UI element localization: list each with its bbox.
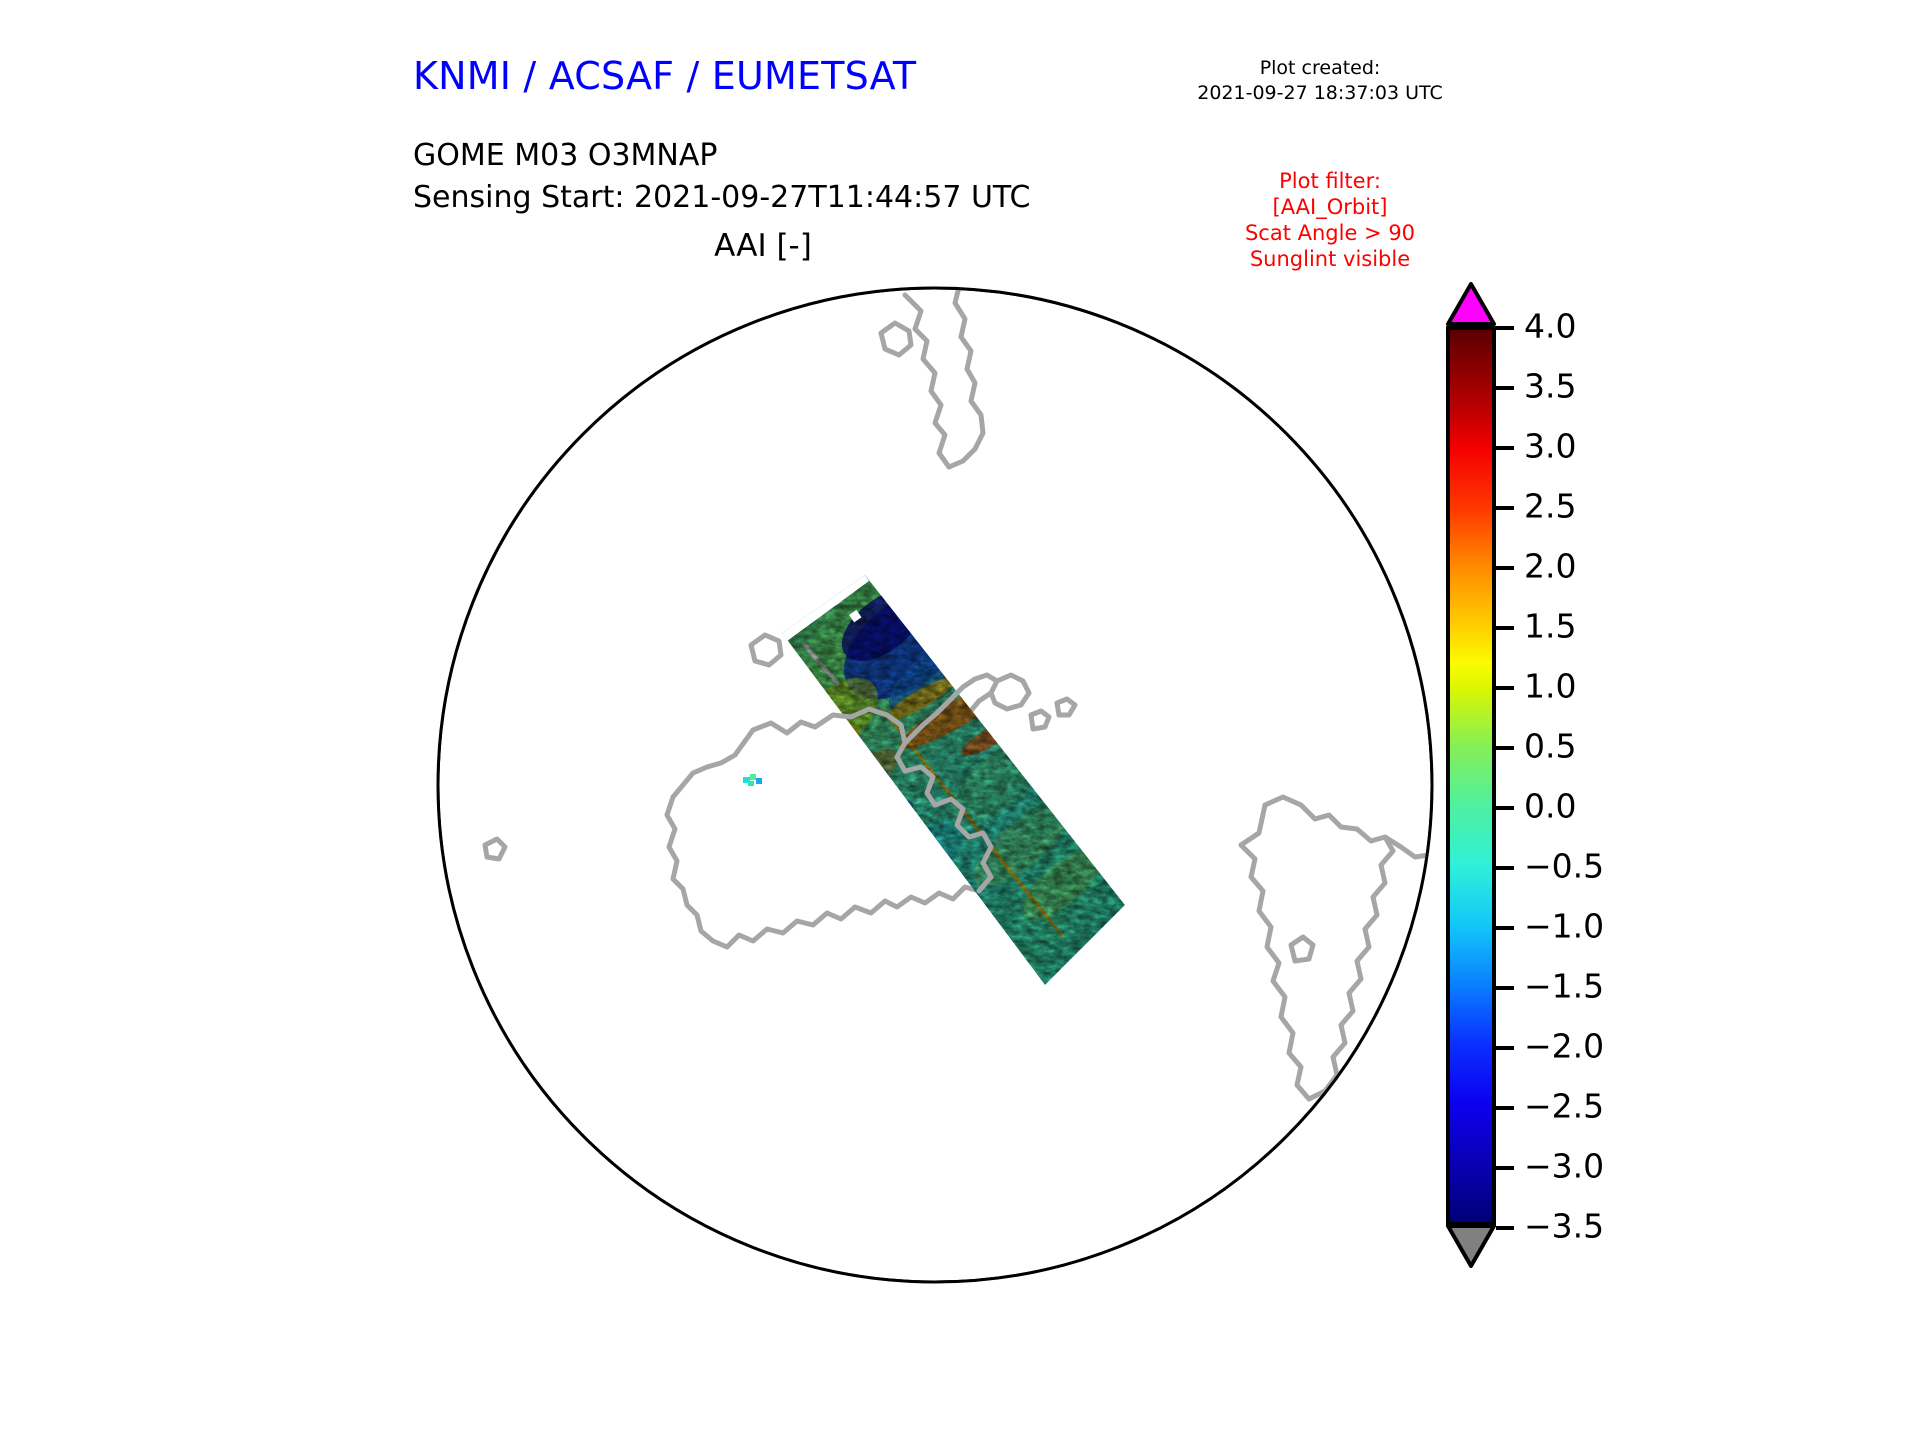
plot-created-timestamp: 2021-09-27 18:37:03 UTC — [1160, 81, 1480, 106]
colorbar-tick-label: 2.0 — [1524, 550, 1576, 583]
plot-filter-title: Plot filter: — [1180, 168, 1480, 194]
colorbar-tick-label: 2.5 — [1524, 490, 1576, 523]
colorbar-tick-label: 4.0 — [1524, 310, 1576, 343]
colorbar-tick-mark — [1496, 806, 1514, 810]
colorbar-tick-mark — [1496, 326, 1514, 330]
colorbar-tick-mark — [1496, 1226, 1514, 1230]
colorbar-gradient — [1450, 330, 1492, 1222]
colorbar-tick-label: −2.5 — [1524, 1090, 1604, 1123]
plot-filter-line-2: Scat Angle > 90 — [1180, 220, 1480, 246]
colorbar-tick-label: 3.0 — [1524, 430, 1576, 463]
colorbar-tick-mark — [1496, 686, 1514, 690]
colorbar-tick-label: −1.0 — [1524, 910, 1604, 943]
organisation-title: KNMI / ACSAF / EUMETSAT — [413, 54, 916, 98]
plot-filter-block: Plot filter: [AAI_Orbit] Scat Angle > 90… — [1180, 168, 1480, 272]
colorbar-tick-mark — [1496, 506, 1514, 510]
plot-filter-line-3: Sunglint visible — [1180, 246, 1480, 272]
colorbar-tick-label: −1.5 — [1524, 970, 1604, 1003]
colorbar-tick-label: −3.0 — [1524, 1150, 1604, 1183]
colorbar-tick-label: −0.5 — [1524, 850, 1604, 883]
colorbar-tick-mark — [1496, 1166, 1514, 1170]
colorbar-tick-mark — [1496, 866, 1514, 870]
polar-stereographic-map[interactable] — [435, 285, 1435, 1285]
colorbar-body[interactable] — [1446, 326, 1496, 1226]
colorbar-tick-mark — [1496, 566, 1514, 570]
colorbar-tick-mark — [1496, 926, 1514, 930]
quantity-title: AAI [-] — [413, 228, 1113, 264]
colorbar-tick-mark — [1496, 986, 1514, 990]
colorbar-tick-label: 0.5 — [1524, 730, 1576, 763]
colorbar-tick-mark — [1496, 386, 1514, 390]
colorbar[interactable]: 4.03.53.02.52.01.51.00.50.0−0.5−1.0−1.5−… — [1432, 285, 1852, 1295]
dataset-block: GOME M03 O3MNAP Sensing Start: 2021-09-2… — [413, 135, 1030, 219]
colorbar-tick-label: 1.0 — [1524, 670, 1576, 703]
colorbar-tick-mark — [1496, 626, 1514, 630]
colorbar-tick-label: 3.5 — [1524, 370, 1576, 403]
sensing-start: Sensing Start: 2021-09-27T11:44:57 UTC — [413, 177, 1030, 219]
map-panel[interactable] — [435, 285, 1435, 1285]
plot-created-label: Plot created: — [1160, 56, 1480, 81]
colorbar-tick-mark — [1496, 446, 1514, 450]
plot-filter-line-1: [AAI_Orbit] — [1180, 194, 1480, 220]
colorbar-over-arrow — [1446, 282, 1496, 326]
dataset-name: GOME M03 O3MNAP — [413, 135, 1030, 177]
colorbar-tick-label: −2.0 — [1524, 1030, 1604, 1063]
plot-created-block: Plot created: 2021-09-27 18:37:03 UTC — [1160, 56, 1480, 106]
rim-island-nw — [657, 307, 707, 349]
colorbar-tick-label: 0.0 — [1524, 790, 1576, 823]
colorbar-tick-mark — [1496, 746, 1514, 750]
colorbar-under-arrow — [1446, 1224, 1496, 1268]
colorbar-tick-label: −3.5 — [1524, 1210, 1604, 1243]
colorbar-tick-label: 1.5 — [1524, 610, 1576, 643]
colorbar-tick-mark — [1496, 1046, 1514, 1050]
colorbar-tick-mark — [1496, 1106, 1514, 1110]
